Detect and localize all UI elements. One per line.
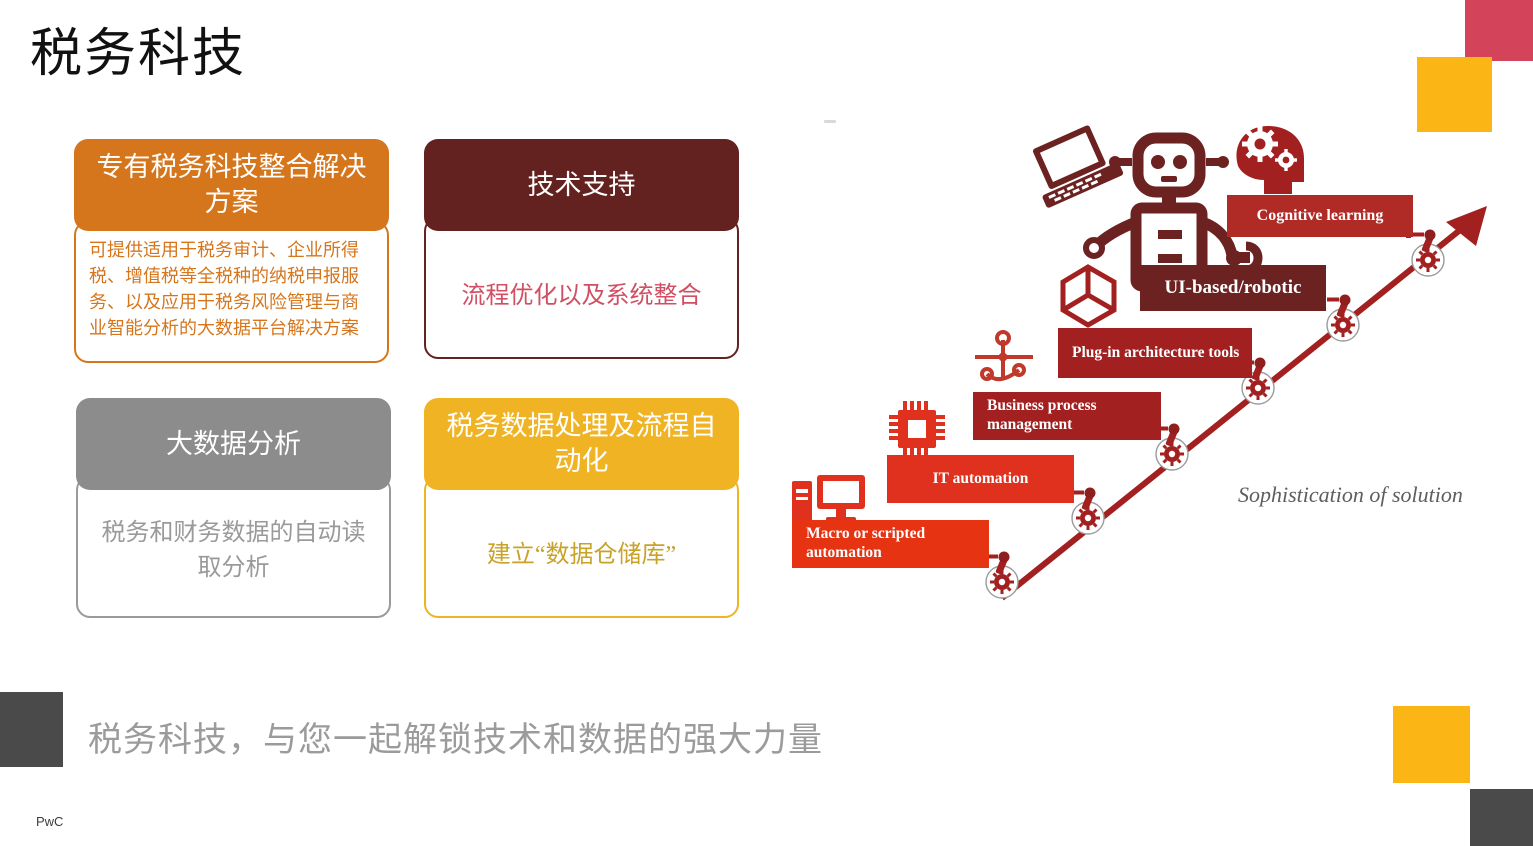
step-ui-based-robotic[interactable]: UI-based/robotic bbox=[1140, 265, 1326, 311]
cube-wireframe-icon bbox=[1063, 267, 1114, 325]
process-flow-icon bbox=[975, 332, 1033, 379]
microchip-icon bbox=[889, 401, 945, 457]
card-tax-tech-header: 专有税务科技整合解决方案 bbox=[74, 139, 389, 231]
step-plug-in-architecture-tools[interactable]: Plug-in architecture tools bbox=[1058, 328, 1252, 378]
pwc-logo: PwC bbox=[36, 814, 63, 829]
card-big-data-header: 大数据分析 bbox=[76, 398, 391, 490]
card-data-automation[interactable]: 税务数据处理及流程自动化 建立“数据仓储库” bbox=[424, 398, 739, 618]
step-macro-or-scripted-automation[interactable]: Macro or scripted automation bbox=[792, 520, 989, 568]
card-data-automation-header: 税务数据处理及流程自动化 bbox=[424, 398, 739, 490]
card-big-data[interactable]: 大数据分析 税务和财务数据的自动读取分析 bbox=[76, 398, 391, 618]
card-tax-tech[interactable]: 专有税务科技整合解决方案 可提供适用于税务审计、企业所得税、增值税等全税种的纳税… bbox=[74, 139, 389, 363]
slide-canvas: 税务科技 专有税务科技整合解决方案 可提供适用于税务审计、企业所得税、增值税等全… bbox=[0, 0, 1533, 846]
step-cognitive-learning[interactable]: Cognitive learning bbox=[1227, 195, 1413, 237]
robot-icon bbox=[1023, 120, 1258, 286]
laptop-icon bbox=[1023, 120, 1124, 209]
axis-label-sophistication-of-solution: Sophistication of solution bbox=[1238, 482, 1463, 508]
decorative-square-pink bbox=[1465, 0, 1533, 61]
decorative-square-yellow-bottom bbox=[1393, 706, 1470, 783]
decorative-square-dark-bottom-left bbox=[0, 692, 63, 767]
step-it-automation[interactable]: IT automation bbox=[887, 455, 1074, 503]
sophistication-staircase-diagram: Macro or scripted automation IT automati… bbox=[770, 110, 1533, 640]
step-business-process-management[interactable]: Business process management bbox=[973, 392, 1161, 440]
card-tax-tech-body: 可提供适用于税务审计、企业所得税、增值税等全税种的纳税申报服务、以及应用于税务风… bbox=[74, 221, 389, 363]
page-title: 税务科技 bbox=[30, 26, 246, 83]
card-tech-support-body: 流程优化以及系统整合 bbox=[424, 217, 739, 359]
card-data-automation-body: 建立“数据仓储库” bbox=[424, 476, 739, 618]
bottom-caption: 税务科技，与您一起解锁技术和数据的强大力量 bbox=[88, 712, 823, 761]
decorative-square-dark-bottom-right bbox=[1470, 789, 1533, 846]
card-tech-support-header: 技术支持 bbox=[424, 139, 739, 231]
card-tech-support[interactable]: 技术支持 流程优化以及系统整合 bbox=[424, 139, 739, 359]
card-big-data-body: 税务和财务数据的自动读取分析 bbox=[76, 476, 391, 618]
